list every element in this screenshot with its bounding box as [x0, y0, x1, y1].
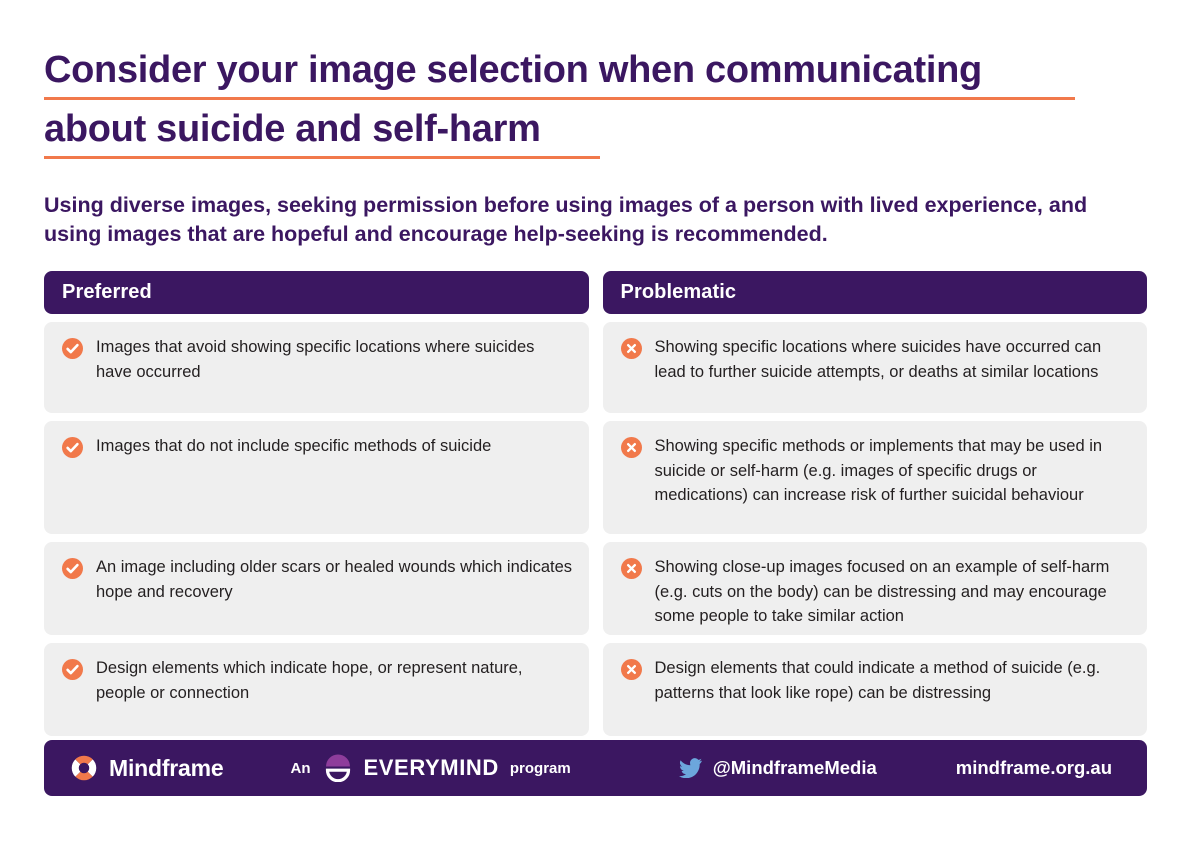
program-label: program [510, 760, 571, 777]
cross-circle-icon [621, 338, 642, 359]
website-url[interactable]: mindframe.org.au [956, 757, 1112, 779]
twitter-handle-group[interactable]: @MindframeMedia [679, 757, 877, 779]
list-item: Design elements that could indicate a me… [603, 643, 1148, 736]
list-item-text: Images that avoid showing specific locat… [96, 335, 573, 384]
list-item-text: Design elements which indicate hope, or … [96, 656, 573, 705]
title-line-2: about suicide and self-harm [44, 103, 1147, 161]
everymind-logo-icon [323, 754, 353, 782]
an-label: An [291, 760, 311, 777]
column-preferred: Preferred Images that avoid showing spec… [44, 271, 589, 736]
column-header-problematic: Problematic [603, 271, 1148, 314]
intro-paragraph: Using diverse images, seeking permission… [44, 191, 1136, 249]
column-header-preferred-label: Preferred [62, 281, 152, 304]
cross-circle-icon [621, 659, 642, 680]
preferred-row-list: Images that avoid showing specific locat… [44, 322, 589, 736]
list-item-text: Showing specific methods or implements t… [655, 434, 1132, 508]
cross-circle-icon [621, 437, 642, 458]
page-title: Consider your image selection when commu… [44, 0, 1147, 161]
everymind-wordmark: EVERYMIND [364, 755, 499, 781]
list-item: Images that do not include specific meth… [44, 421, 589, 534]
check-circle-icon [62, 558, 83, 579]
title-line-2-text: about suicide and self-harm [44, 108, 541, 150]
mindframe-logo-icon [70, 754, 98, 782]
check-circle-icon [62, 437, 83, 458]
check-circle-icon [62, 659, 83, 680]
list-item-text: Showing close-up images focused on an ex… [655, 555, 1132, 629]
list-item-text: Images that do not include specific meth… [96, 434, 573, 459]
footer-bar: Mindframe An EVERYMIND program @Mindfram… [44, 740, 1147, 796]
list-item-text: An image including older scars or healed… [96, 555, 573, 604]
cross-circle-icon [621, 558, 642, 579]
list-item-text: Design elements that could indicate a me… [655, 656, 1132, 705]
check-circle-icon [62, 338, 83, 359]
list-item: Showing specific locations where suicide… [603, 322, 1148, 413]
comparison-columns: Preferred Images that avoid showing spec… [44, 271, 1147, 736]
title-line-1: Consider your image selection when commu… [44, 44, 1147, 102]
twitter-bird-icon [679, 758, 703, 778]
mindframe-wordmark: Mindframe [109, 755, 224, 782]
title-underline-1 [44, 97, 1075, 100]
column-problematic: Problematic Showing specific locations w… [603, 271, 1148, 736]
list-item: Design elements which indicate hope, or … [44, 643, 589, 736]
everymind-attribution: An EVERYMIND program [291, 754, 571, 782]
title-line-1-text: Consider your image selection when commu… [44, 49, 982, 91]
list-item: An image including older scars or healed… [44, 542, 589, 635]
twitter-handle-text: @MindframeMedia [713, 757, 877, 779]
column-header-problematic-label: Problematic [621, 281, 737, 304]
mindframe-brand: Mindframe [70, 754, 224, 782]
problematic-row-list: Showing specific locations where suicide… [603, 322, 1148, 736]
list-item: Showing close-up images focused on an ex… [603, 542, 1148, 635]
list-item: Showing specific methods or implements t… [603, 421, 1148, 534]
infographic-page: Consider your image selection when commu… [0, 0, 1191, 842]
list-item-text: Showing specific locations where suicide… [655, 335, 1132, 384]
list-item: Images that avoid showing specific locat… [44, 322, 589, 413]
title-underline-2 [44, 156, 600, 159]
column-header-preferred: Preferred [44, 271, 589, 314]
